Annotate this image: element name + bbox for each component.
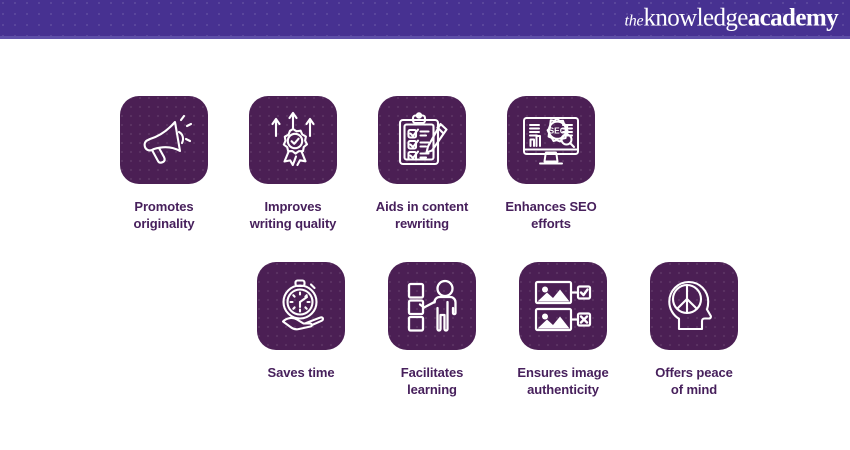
benefit-label: Aids in content rewriting (357, 198, 487, 232)
benefit-label: Improves writing quality (228, 198, 358, 232)
benefit-label-line2: learning (407, 382, 457, 397)
image-check-cross-icon (533, 277, 593, 335)
infographic-page: theknowledgeacademy (0, 0, 850, 450)
benefit-label: Enhances SEO efforts (486, 198, 616, 232)
benefit-tile (378, 96, 466, 184)
benefit-label: Saves time (236, 364, 366, 381)
benefit-tile (249, 96, 337, 184)
benefit-card-improves-writing-quality[interactable]: Improves writing quality (249, 96, 337, 232)
benefit-tile: SEO (507, 96, 595, 184)
benefit-label: Ensures image authenticity (498, 364, 628, 398)
benefit-card-aids-in-content-rewriting[interactable]: Aids in content rewriting (378, 96, 466, 232)
benefit-tile (120, 96, 208, 184)
benefit-label: Promotes originality (99, 198, 229, 232)
logo-text-the: the (625, 14, 644, 30)
benefit-label-line1: Aids in content (376, 199, 468, 214)
benefit-label-line2: efforts (531, 216, 571, 231)
benefit-label-line1: Improves (264, 199, 321, 214)
logo-text-academy: academy (748, 6, 838, 31)
benefit-label-line1: Promotes (134, 199, 193, 214)
logo-text-knowledge: knowledge (643, 6, 747, 31)
benefit-card-facilitates-learning[interactable]: Facilitates learning (388, 262, 476, 398)
benefit-label-line2: rewriting (395, 216, 449, 231)
benefit-label: Facilitates learning (367, 364, 497, 398)
benefit-label-line2: of mind (671, 382, 717, 397)
monitor-seo-gear-icon: SEO (521, 111, 581, 169)
benefit-card-enhances-seo-efforts[interactable]: SEO Enhances SEO efforts (507, 96, 595, 232)
clipboard-checklist-pencil-icon (393, 111, 451, 169)
benefit-tile (388, 262, 476, 350)
benefit-label-line1: Facilitates (401, 365, 464, 380)
head-peace-icon (665, 277, 723, 335)
brand-logo: theknowledgeacademy (625, 6, 838, 31)
benefit-card-saves-time[interactable]: Saves time (257, 262, 345, 398)
benefit-label-line2: writing quality (250, 216, 337, 231)
benefit-card-ensures-image-authenticity[interactable]: Ensures image authenticity (519, 262, 607, 398)
benefits-row-2: Saves time (257, 262, 738, 398)
svg-text:SEO: SEO (549, 125, 567, 135)
award-ribbon-arrows-icon (264, 111, 322, 169)
benefit-tile (650, 262, 738, 350)
benefits-row-1: Promotes originality (120, 96, 595, 232)
megaphone-icon (135, 111, 193, 169)
benefit-label: Offers peace of mind (629, 364, 759, 398)
benefit-tile (519, 262, 607, 350)
page-header: theknowledgeacademy (0, 0, 850, 36)
benefit-label-line1: Enhances SEO (505, 199, 596, 214)
benefit-tile (257, 262, 345, 350)
benefit-label-line1: Offers peace (655, 365, 733, 380)
benefit-label-line2: originality (133, 216, 194, 231)
benefit-card-offers-peace-of-mind[interactable]: Offers peace of mind (650, 262, 738, 398)
benefit-label-line1: Ensures image (517, 365, 608, 380)
stopwatch-hand-icon (272, 277, 330, 335)
benefits-grid: Promotes originality (0, 36, 850, 450)
presenter-board-icon (403, 277, 461, 335)
benefit-label-line2: authenticity (527, 382, 599, 397)
benefit-label-line1: Saves time (268, 365, 335, 380)
benefit-card-promotes-originality[interactable]: Promotes originality (120, 96, 208, 232)
